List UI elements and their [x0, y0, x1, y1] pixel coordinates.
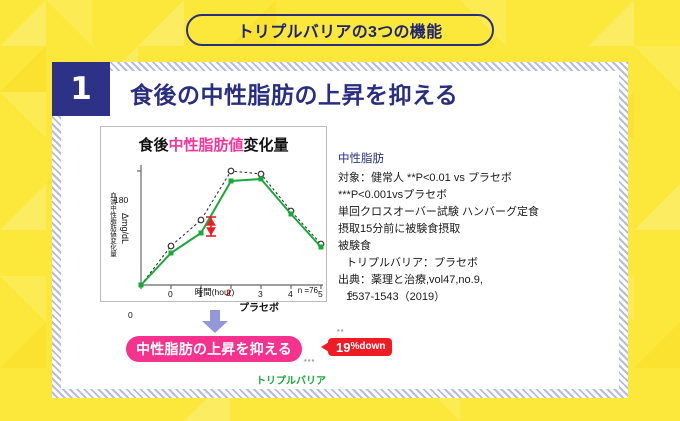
bg-triangle — [634, 322, 680, 368]
chart-title-prefix: 食後 — [138, 137, 168, 154]
study-detail-line: 1537-1543（2019） — [338, 289, 588, 306]
step-number-badge: 1 — [52, 62, 110, 116]
bg-triangle — [46, 0, 92, 46]
bg-triangle — [634, 184, 680, 230]
series-markers-triplebarrier — [139, 177, 324, 288]
series-label-triplebarrier: トリプルバリア — [256, 372, 326, 387]
reduction-value: 19 — [336, 341, 350, 354]
y-axis-label-unit: Δmg/dL — [120, 213, 130, 244]
study-details-block: 中性脂肪 対象：健常人 **P<0.01 vs プラセボ ***P<0.001v… — [338, 150, 588, 306]
slide-canvas: トリプルバリアの3つの機能 1 食後の中性脂肪の上昇を抑える 食後中性脂肪値変化… — [0, 0, 680, 421]
bg-triangle — [588, 0, 634, 46]
y-tick-label-0: 0 — [128, 310, 133, 320]
chart-title-highlight: 中性脂肪値 — [168, 137, 243, 154]
reduction-callout-badge: 19%down — [328, 338, 392, 356]
study-detail-line: 被験食 — [338, 238, 588, 255]
bg-triangle — [634, 46, 680, 92]
study-detail-line: 出典：薬理と治療,vol47,no.9, — [338, 272, 588, 289]
chart-title-suffix: 変化量 — [244, 137, 289, 154]
series-label-placebo: プラセボ — [239, 299, 279, 314]
bg-triangle — [0, 322, 46, 368]
significance-marker-3stars: *** — [304, 359, 315, 366]
result-banner: 中性脂肪の上昇を抑える — [126, 336, 302, 362]
result-banner-text: 中性脂肪の上昇を抑える — [136, 339, 292, 359]
bg-triangle — [0, 184, 46, 230]
bg-triangle — [0, 0, 46, 46]
study-details-title: 中性脂肪 — [338, 150, 588, 166]
significance-marker-2stars: ** — [337, 329, 344, 336]
series-line-triplebarrier — [141, 179, 321, 285]
study-detail-line: トリプルバリア：プラセボ — [338, 255, 588, 272]
reduction-unit: %down — [350, 342, 385, 352]
study-detail-line: 単回クロスオーバー試験 ハンバーグ定食 — [338, 204, 588, 221]
step-number-text: 1 — [70, 74, 92, 105]
arrow-down-icon — [200, 310, 230, 334]
chart-svg — [101, 157, 328, 303]
chart-title: 食後中性脂肪値変化量 — [101, 134, 326, 155]
bg-triangle — [0, 46, 46, 92]
y-tick-label-180: 180 — [114, 195, 128, 205]
page-title: 食後の中性脂肪の上昇を抑える — [130, 76, 530, 110]
x-axis-label: 時間(hour) — [101, 286, 328, 298]
study-detail-line: 摂取15分前に被験食摂取 — [338, 221, 588, 238]
sample-size-label: n =76 — [298, 286, 318, 295]
chart-panel: 食後中性脂肪値変化量 — [100, 126, 327, 302]
series-line-placebo — [141, 171, 321, 285]
section-title-text: トリプルバリアの3つの機能 — [238, 18, 443, 42]
y-axis-label-jp: 血清中性脂肪値変化量 — [108, 192, 115, 257]
chart-plot-area: 180 0 血清中性脂肪値変化量 Δmg/dL — [101, 157, 328, 303]
bg-triangle — [138, 0, 184, 46]
study-detail-line: 対象：健常人 **P<0.01 vs プラセボ — [338, 170, 588, 187]
section-title-banner: トリプルバリアの3つの機能 — [186, 14, 494, 46]
study-detail-line: ***P<0.001vsプラセボ — [338, 187, 588, 204]
bg-triangle — [0, 276, 46, 322]
bg-triangle — [0, 92, 46, 138]
